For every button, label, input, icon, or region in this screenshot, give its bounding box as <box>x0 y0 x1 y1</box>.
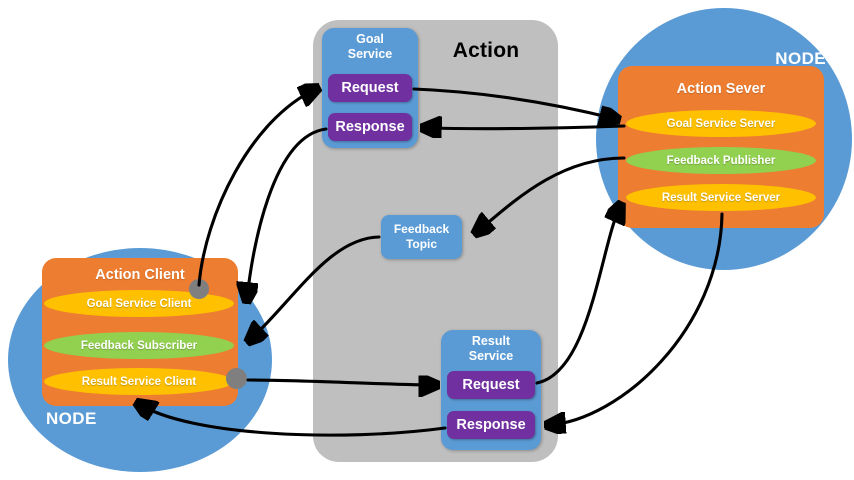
result-service-response-box[interactable]: Response <box>447 411 535 439</box>
client-goal-connector-knob <box>189 279 209 299</box>
client-result-connector-knob <box>226 368 247 389</box>
result-service-title-line2: Service <box>469 349 513 363</box>
pill-result-service-server[interactable]: Result Service Server <box>626 184 816 211</box>
pill-goal-service-server[interactable]: Goal Service Server <box>626 110 816 137</box>
pill-result-service-client[interactable]: Result Service Client <box>44 368 234 395</box>
feedback-topic-box[interactable]: Feedback Topic <box>381 215 462 259</box>
client-node-label: NODE <box>46 408 126 430</box>
goal-service-title-line2: Service <box>348 47 392 61</box>
pill-feedback-publisher[interactable]: Feedback Publisher <box>626 147 816 174</box>
diagram-canvas: Action Action Client Goal Service Client… <box>0 0 854 480</box>
goal-service-title-line1: Goal <box>356 32 384 46</box>
result-service-title: Result Service <box>441 334 541 368</box>
goal-service-response-box[interactable]: Response <box>328 113 412 141</box>
result-service-title-line1: Result <box>472 334 510 348</box>
action-server-title: Action Sever <box>618 78 824 100</box>
server-node-label: NODE <box>746 48 826 70</box>
feedback-topic-line1: Feedback <box>394 222 449 236</box>
action-panel-label: Action <box>434 36 538 66</box>
goal-service-request-box[interactable]: Request <box>328 74 412 102</box>
pill-feedback-subscriber[interactable]: Feedback Subscriber <box>44 332 234 359</box>
result-service-request-box[interactable]: Request <box>447 371 535 399</box>
goal-service-title: Goal Service <box>322 32 418 66</box>
arrow-goal-client-to-request <box>199 89 316 285</box>
feedback-topic-line2: Topic <box>406 237 437 251</box>
action-client-title: Action Client <box>42 264 238 286</box>
